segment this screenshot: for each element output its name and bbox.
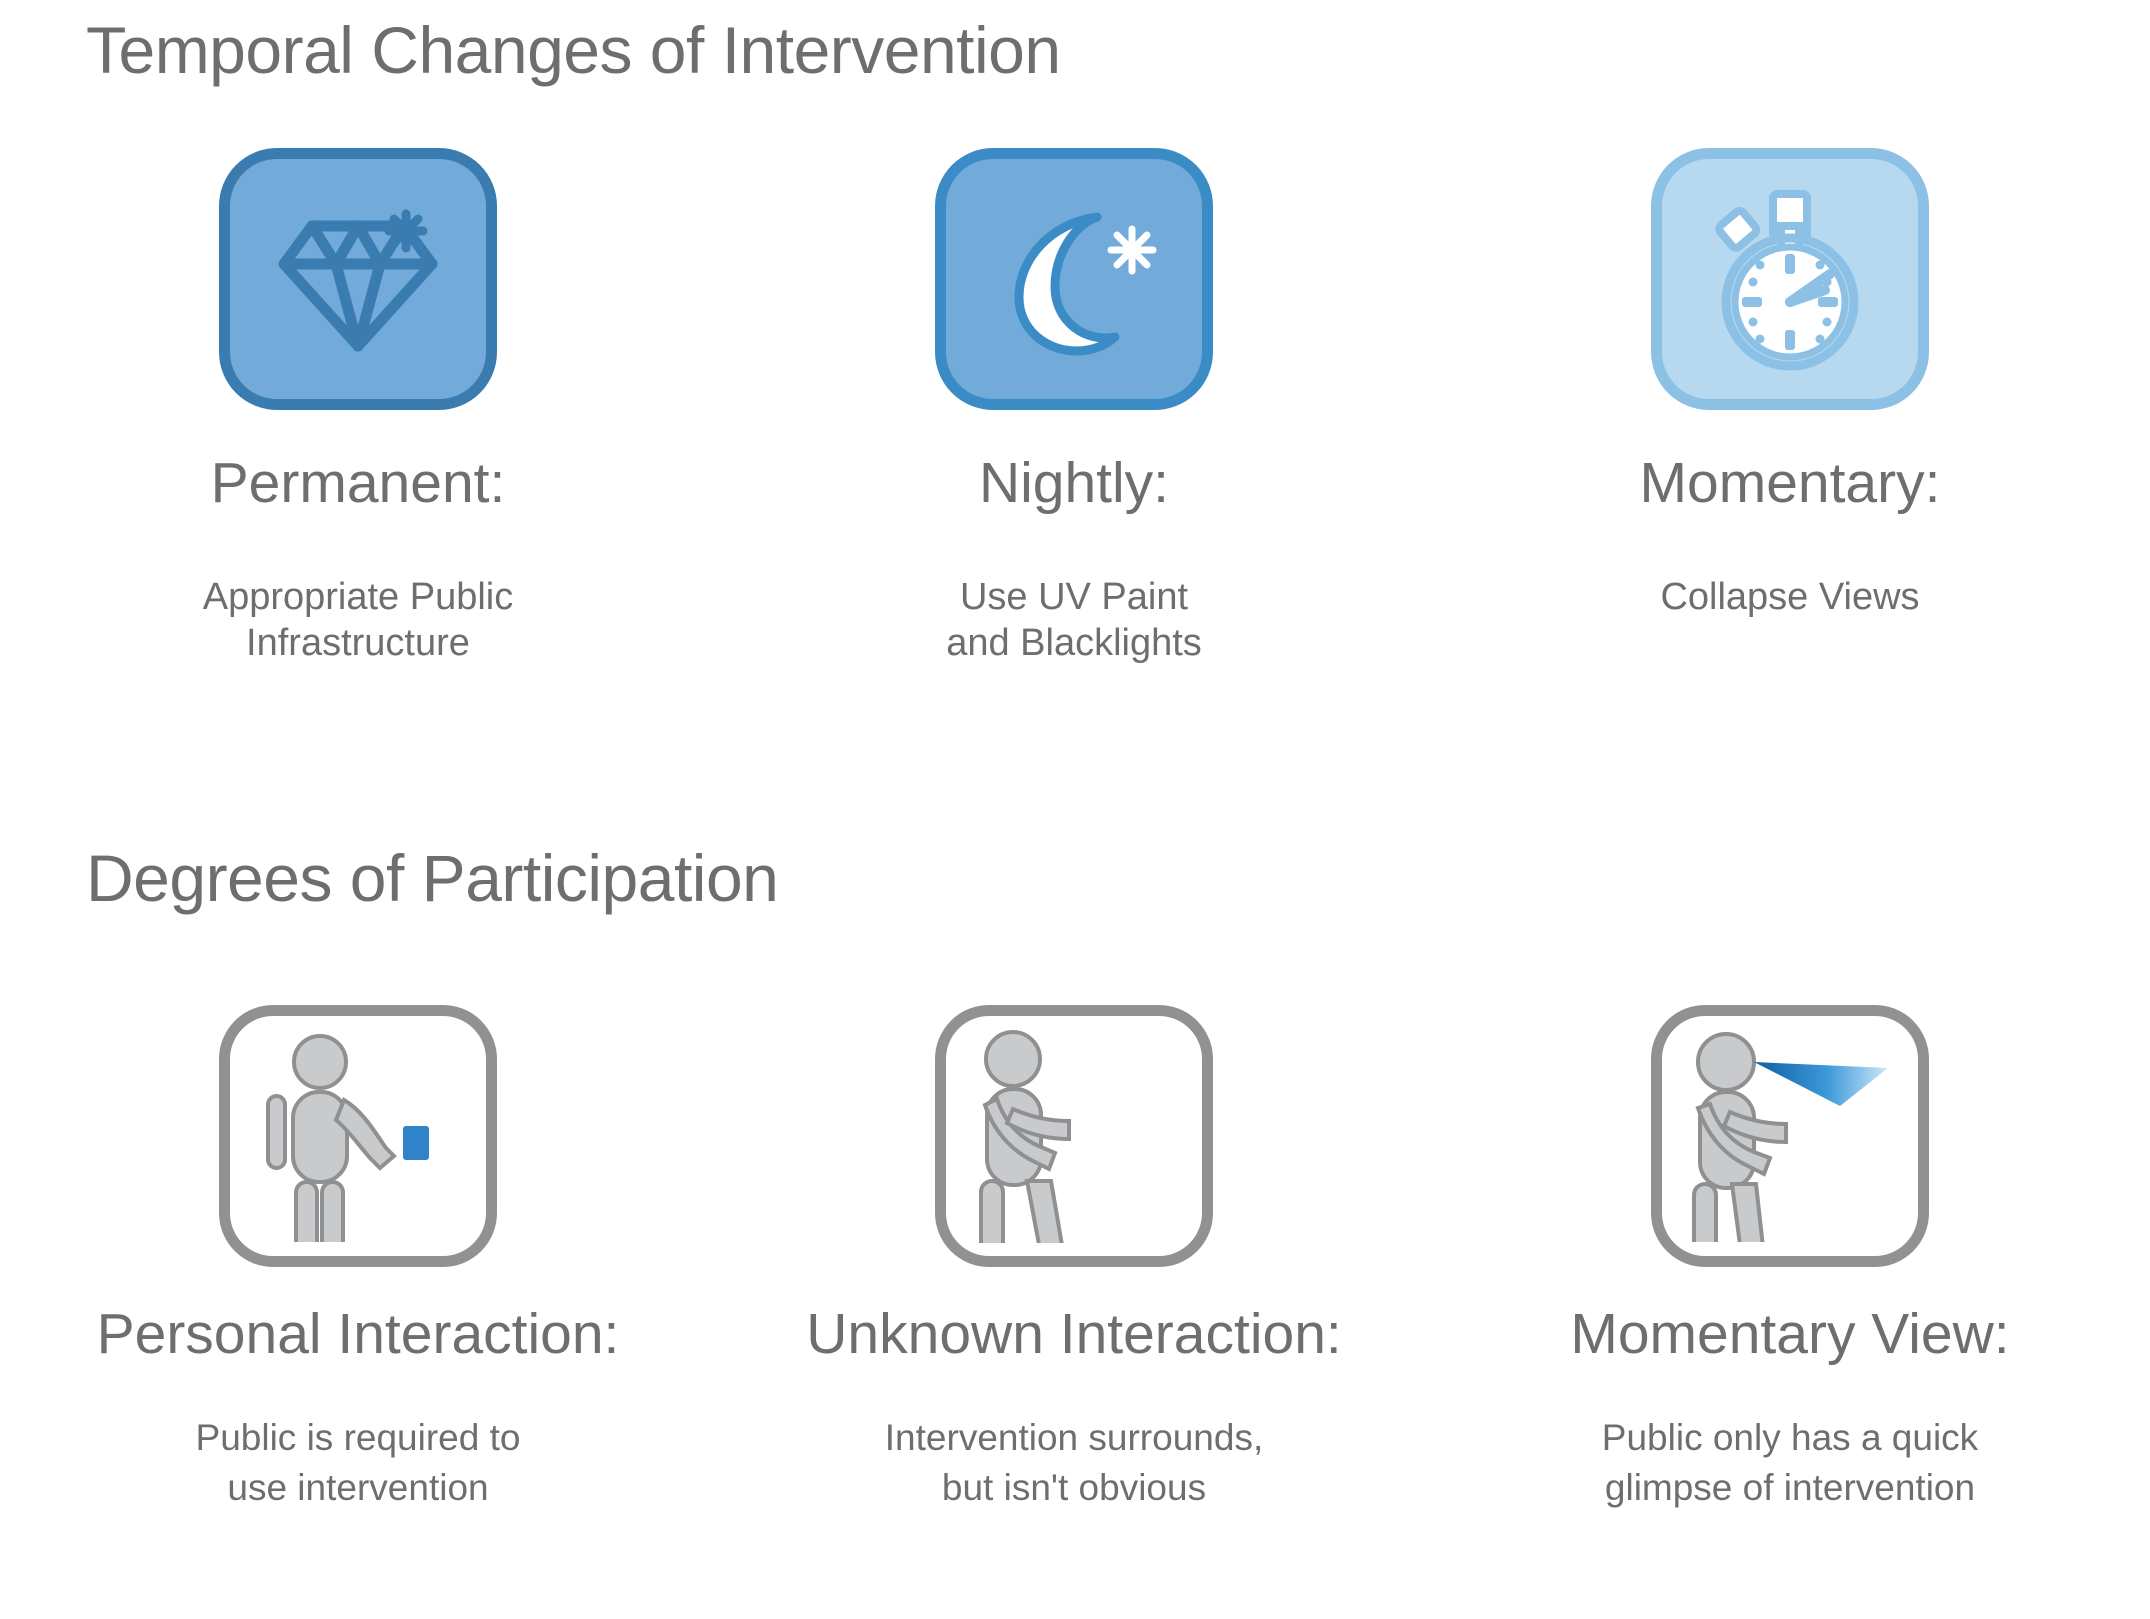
tile-permanent[interactable]	[219, 148, 497, 410]
tile-nightly[interactable]	[935, 148, 1213, 410]
card-label-unknown-interaction: Unknown Interaction:	[806, 1301, 1341, 1367]
tile-momentary[interactable]	[1651, 148, 1929, 410]
card-permanent[interactable]: Permanent: Appropriate Public Infrastruc…	[0, 148, 716, 667]
card-unknown-interaction[interactable]: Unknown Interaction: Intervention surrou…	[716, 1005, 1432, 1513]
card-desc-line: Use UV Paint	[946, 574, 1202, 620]
card-desc-personal-interaction: Public is required to use intervention	[196, 1413, 521, 1513]
blue-panel	[403, 1126, 429, 1160]
card-desc-line: Collapse Views	[1660, 574, 1919, 620]
card-label-permanent: Permanent:	[211, 450, 506, 516]
card-desc-line: Intervention surrounds,	[885, 1413, 1263, 1463]
card-momentary-view[interactable]: Momentary View: Public only has a quick …	[1432, 1005, 2148, 1513]
person-touching-panel-icon	[258, 1030, 458, 1242]
card-desc-line: and Blacklights	[946, 620, 1202, 666]
card-momentary[interactable]: Momentary: Collapse Views	[1432, 148, 2148, 667]
card-desc-line: glimpse of intervention	[1602, 1463, 1978, 1513]
section-title-participation: Degrees of Participation	[86, 840, 778, 916]
card-desc-line: Appropriate Public	[203, 574, 514, 620]
diamond-icon	[274, 204, 442, 354]
card-desc-unknown-interaction: Intervention surrounds, but isn't obviou…	[885, 1413, 1263, 1513]
card-personal-interaction[interactable]: Personal Interaction: Public is required…	[0, 1005, 716, 1513]
card-desc-line: use intervention	[196, 1463, 521, 1513]
tile-unknown-interaction[interactable]	[935, 1005, 1213, 1267]
card-desc-nightly: Use UV Paint and Blacklights	[946, 574, 1202, 667]
card-desc-momentary-view: Public only has a quick glimpse of inter…	[1602, 1413, 1978, 1513]
person-viewing-cone-icon	[1682, 1030, 1898, 1242]
card-label-momentary-view: Momentary View:	[1570, 1301, 2009, 1367]
card-desc-permanent: Appropriate Public Infrastructure	[203, 574, 514, 667]
stopwatch-icon	[1697, 186, 1883, 372]
section-title-temporal: Temporal Changes of Intervention	[86, 12, 1061, 88]
card-desc-line: Public is required to	[196, 1413, 521, 1463]
card-desc-momentary: Collapse Views	[1660, 574, 1919, 620]
card-desc-line: Public only has a quick	[1602, 1413, 1978, 1463]
participation-card-row: Personal Interaction: Public is required…	[0, 1005, 2150, 1513]
card-desc-line: Infrastructure	[203, 620, 514, 666]
temporal-card-row: Permanent: Appropriate Public Infrastruc…	[0, 148, 2150, 667]
moon-star-icon	[979, 193, 1169, 365]
tile-personal-interaction[interactable]	[219, 1005, 497, 1267]
person-walking-on-line-icon	[969, 1029, 1179, 1243]
card-desc-line: but isn't obvious	[885, 1463, 1263, 1513]
view-cone	[1754, 1062, 1888, 1106]
card-nightly[interactable]: Nightly: Use UV Paint and Blacklights	[716, 148, 1432, 667]
card-label-personal-interaction: Personal Interaction:	[97, 1301, 620, 1367]
card-label-momentary: Momentary:	[1640, 450, 1941, 516]
card-label-nightly: Nightly:	[979, 450, 1169, 516]
tile-momentary-view[interactable]	[1651, 1005, 1929, 1267]
